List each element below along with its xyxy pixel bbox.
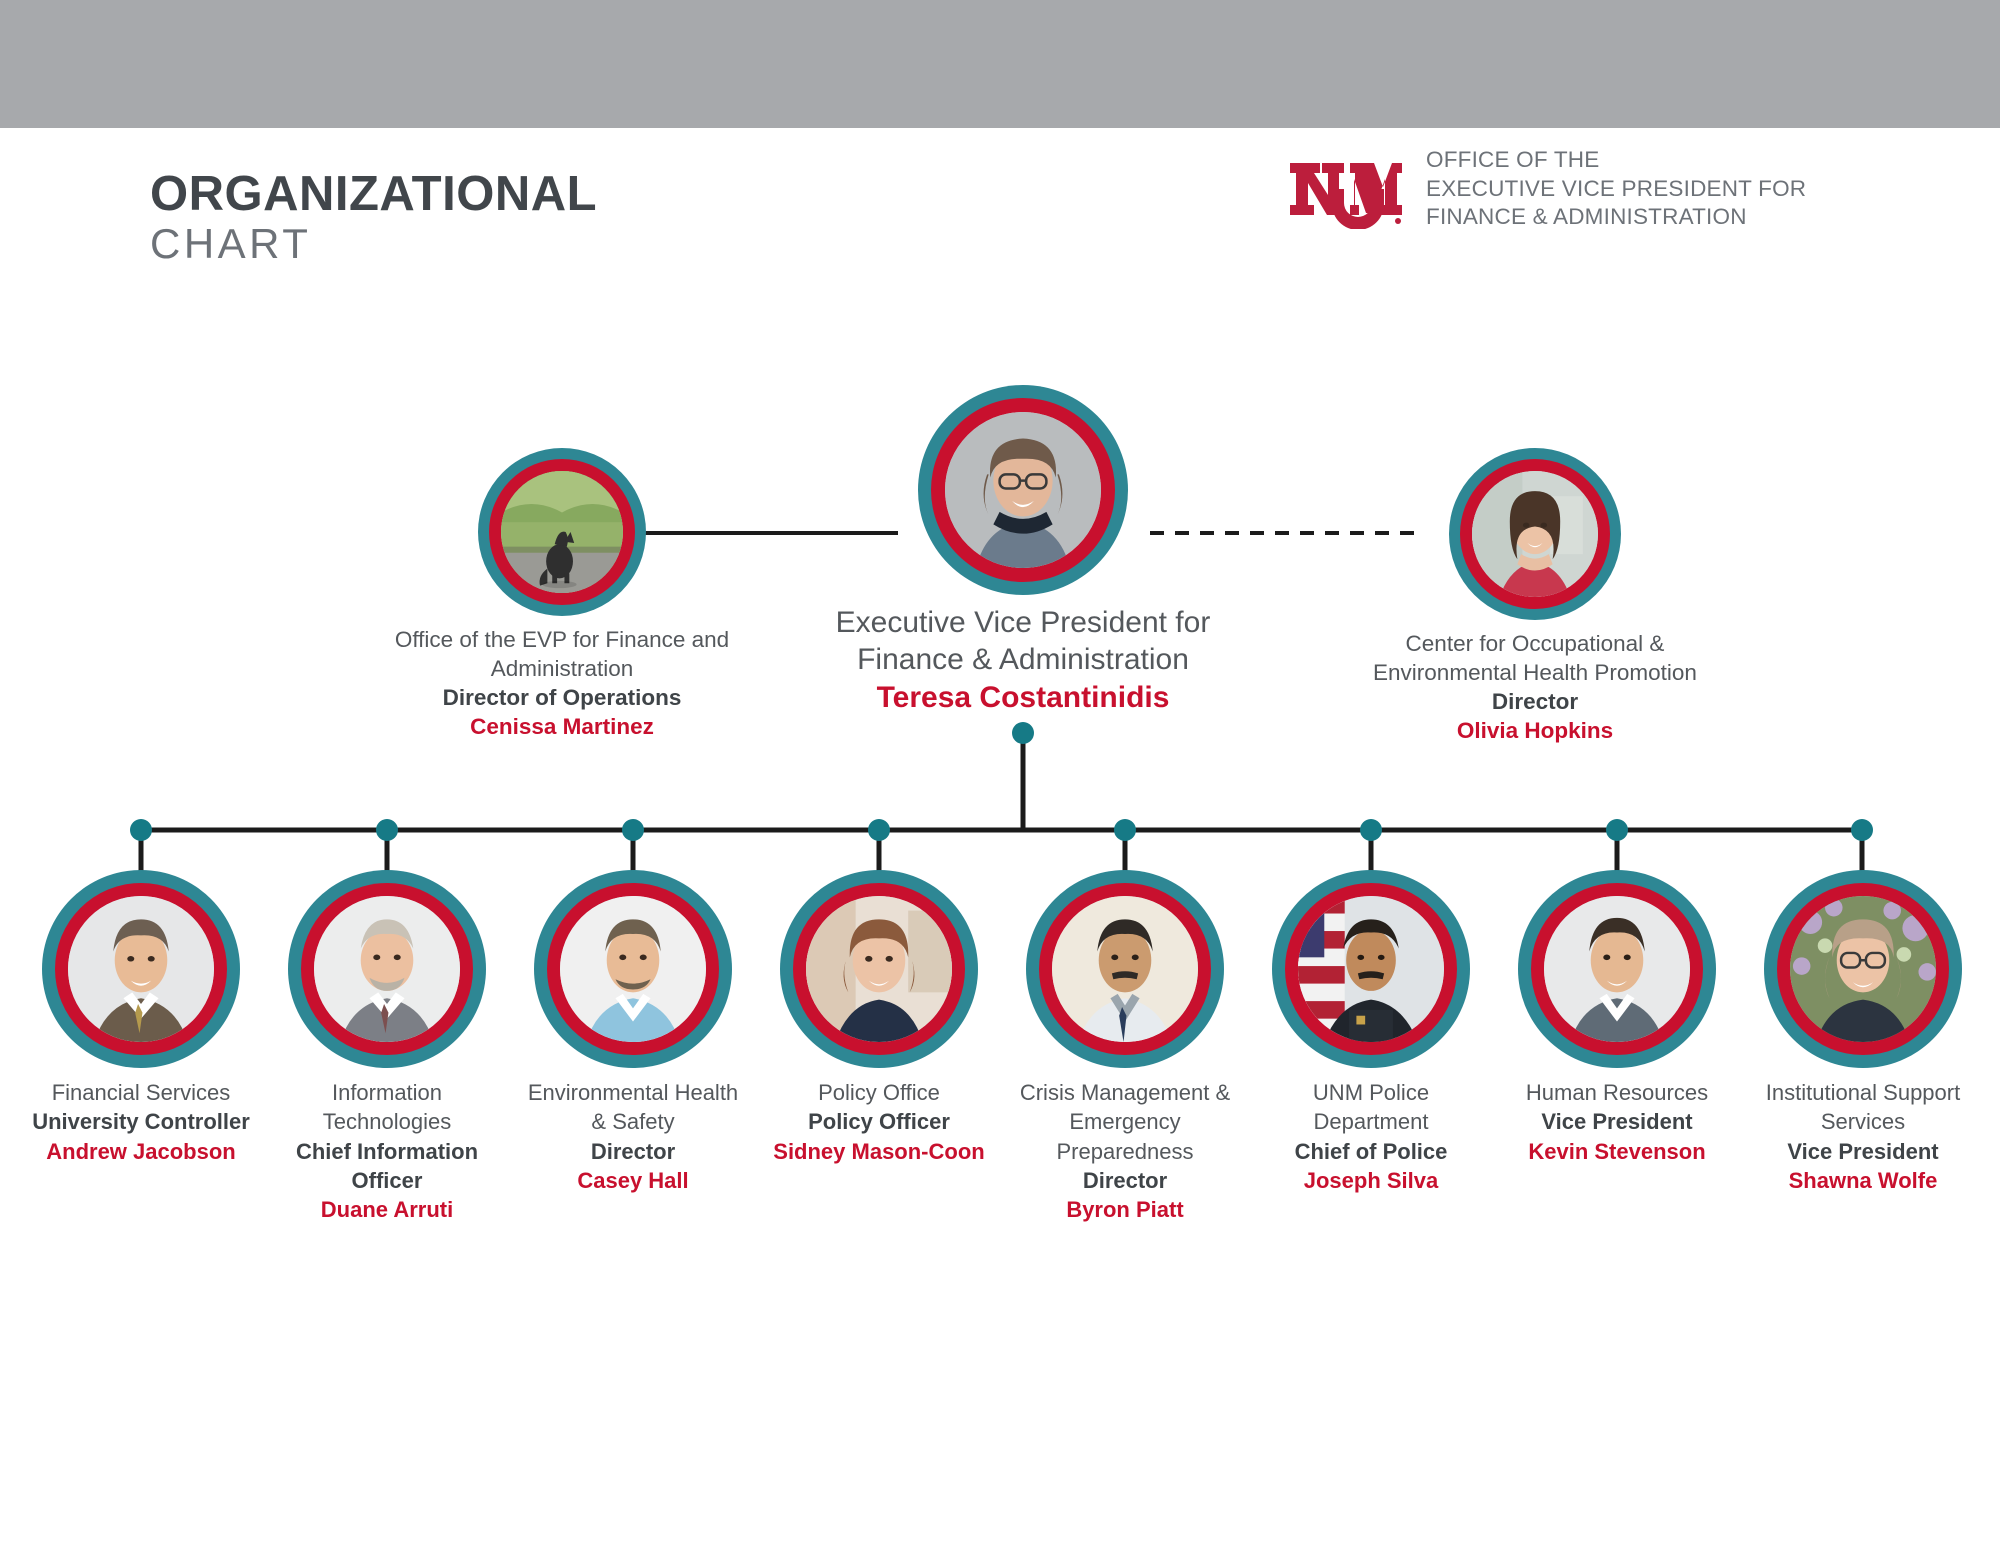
- node-unit: Human Resources: [1502, 1078, 1732, 1107]
- avatar: [1764, 870, 1962, 1068]
- node-person: Byron Piatt: [1010, 1195, 1240, 1224]
- node-label: Policy Office Policy Officer Sidney Maso…: [764, 1078, 994, 1166]
- node-person: Andrew Jacobson: [26, 1137, 256, 1166]
- node-role: Vice President: [1748, 1137, 1978, 1166]
- avatar: [780, 870, 978, 1068]
- node-unit: UNM Police Department: [1256, 1078, 1486, 1137]
- avatar: [288, 870, 486, 1068]
- node-information-technologies[interactable]: Information Technologies Chief Informati…: [272, 870, 502, 1224]
- connector-dot-evp: [1012, 722, 1034, 744]
- title-main: ORGANIZATIONAL: [150, 170, 597, 219]
- logo-line-1: OFFICE OF THE: [1426, 146, 1806, 175]
- page-title: ORGANIZATIONAL CHART: [150, 170, 597, 269]
- node-role: Vice President: [1502, 1107, 1732, 1136]
- node-person: Teresa Costantinidis: [823, 678, 1223, 717]
- unm-logo-icon: [1288, 149, 1404, 229]
- node-role: Chief Information Officer: [272, 1137, 502, 1196]
- node-role: Director: [1335, 688, 1735, 717]
- node-environmental-health-safety[interactable]: Environmental Health & Safety Director C…: [518, 870, 748, 1195]
- photo-duane-arruti: [314, 896, 460, 1042]
- node-unm-police-department[interactable]: UNM Police Department Chief of Police Jo…: [1256, 870, 1486, 1195]
- node-role: Director: [1010, 1166, 1240, 1195]
- node-label: UNM Police Department Chief of Police Jo…: [1256, 1078, 1486, 1195]
- node-unit: Information Technologies: [272, 1078, 502, 1137]
- node-unit-line-1: Center for Occupational &: [1335, 630, 1735, 659]
- photo-teresa-costantinidis: [945, 412, 1101, 568]
- node-unit-line-1: Office of the EVP for Finance and: [362, 626, 762, 655]
- avatar: [1518, 870, 1716, 1068]
- photo-kevin-stevenson: [1544, 896, 1690, 1042]
- node-unit-line-2: Finance & Administration: [823, 642, 1223, 679]
- avatar: [534, 870, 732, 1068]
- node-person: Shawna Wolfe: [1748, 1166, 1978, 1195]
- node-institutional-support-services[interactable]: Institutional Support Services Vice Pres…: [1748, 870, 1978, 1195]
- avatar: [42, 870, 240, 1068]
- node-label: Office of the EVP for Finance and Admini…: [362, 626, 762, 742]
- avatar: [1026, 870, 1224, 1068]
- node-person: Kevin Stevenson: [1502, 1137, 1732, 1166]
- node-unit-line-1: Executive Vice President for: [823, 605, 1223, 642]
- node-label: Executive Vice President for Finance & A…: [823, 605, 1223, 717]
- org-chart-page: ORGANIZATIONAL CHART OFFICE OF THE EXECU…: [0, 0, 2000, 1548]
- node-role: Director of Operations: [362, 684, 762, 713]
- node-role: University Controller: [26, 1107, 256, 1136]
- top-banner: [0, 0, 2000, 128]
- unm-logo-block: OFFICE OF THE EXECUTIVE VICE PRESIDENT F…: [1288, 146, 1806, 232]
- node-unit-line-2: Administration: [362, 655, 762, 684]
- node-role: Policy Officer: [764, 1107, 994, 1136]
- node-evp[interactable]: Executive Vice President for Finance & A…: [823, 385, 1223, 717]
- node-office-of-evp[interactable]: Office of the EVP for Finance and Admini…: [362, 448, 762, 742]
- node-role: Director: [518, 1137, 748, 1166]
- node-label: Institutional Support Services Vice Pres…: [1748, 1078, 1978, 1195]
- page-header: ORGANIZATIONAL CHART OFFICE OF THE EXECU…: [0, 128, 2000, 308]
- photo-joseph-silva: [1298, 896, 1444, 1042]
- node-unit: Crisis Management & Emergency Preparedne…: [1010, 1078, 1240, 1166]
- node-label: Information Technologies Chief Informati…: [272, 1078, 502, 1224]
- logo-line-2: EXECUTIVE VICE PRESIDENT FOR: [1426, 175, 1806, 204]
- node-policy-office[interactable]: Policy Office Policy Officer Sidney Maso…: [764, 870, 994, 1166]
- title-sub: CHART: [150, 219, 597, 269]
- logo-text: OFFICE OF THE EXECUTIVE VICE PRESIDENT F…: [1426, 146, 1806, 232]
- node-human-resources[interactable]: Human Resources Vice President Kevin Ste…: [1502, 870, 1732, 1166]
- node-label: Human Resources Vice President Kevin Ste…: [1502, 1078, 1732, 1166]
- photo-byron-piatt: [1052, 896, 1198, 1042]
- node-label: Center for Occupational & Environmental …: [1335, 630, 1735, 746]
- node-unit: Institutional Support Services: [1748, 1078, 1978, 1137]
- node-center-occupational-health[interactable]: Center for Occupational & Environmental …: [1335, 448, 1735, 746]
- photo-andrew-jacobson: [68, 896, 214, 1042]
- node-unit: Financial Services: [26, 1078, 256, 1107]
- node-label: Financial Services University Controller…: [26, 1078, 256, 1166]
- node-crisis-management[interactable]: Crisis Management & Emergency Preparedne…: [1010, 870, 1240, 1224]
- photo-dog-outdoors: [501, 471, 623, 593]
- node-person: Duane Arruti: [272, 1195, 502, 1224]
- avatar: [1272, 870, 1470, 1068]
- node-person: Cenissa Martinez: [362, 712, 762, 741]
- photo-casey-hall: [560, 896, 706, 1042]
- node-person: Olivia Hopkins: [1335, 716, 1735, 745]
- node-role: Chief of Police: [1256, 1137, 1486, 1166]
- node-person: Casey Hall: [518, 1166, 748, 1195]
- photo-shawna-wolfe: [1790, 896, 1936, 1042]
- node-label: Environmental Health & Safety Director C…: [518, 1078, 748, 1195]
- node-unit-line-2: Environmental Health Promotion: [1335, 659, 1735, 688]
- photo-olivia-hopkins: [1472, 471, 1598, 597]
- node-unit: Policy Office: [764, 1078, 994, 1107]
- node-person: Joseph Silva: [1256, 1166, 1486, 1195]
- avatar: [1449, 448, 1621, 620]
- logo-line-3: FINANCE & ADMINISTRATION: [1426, 203, 1806, 232]
- node-financial-services[interactable]: Financial Services University Controller…: [26, 870, 256, 1166]
- avatar: [478, 448, 646, 616]
- node-unit: Environmental Health & Safety: [518, 1078, 748, 1137]
- node-person: Sidney Mason-Coon: [764, 1137, 994, 1166]
- photo-sidney-mason-coon: [806, 896, 952, 1042]
- avatar: [918, 385, 1128, 595]
- node-label: Crisis Management & Emergency Preparedne…: [1010, 1078, 1240, 1224]
